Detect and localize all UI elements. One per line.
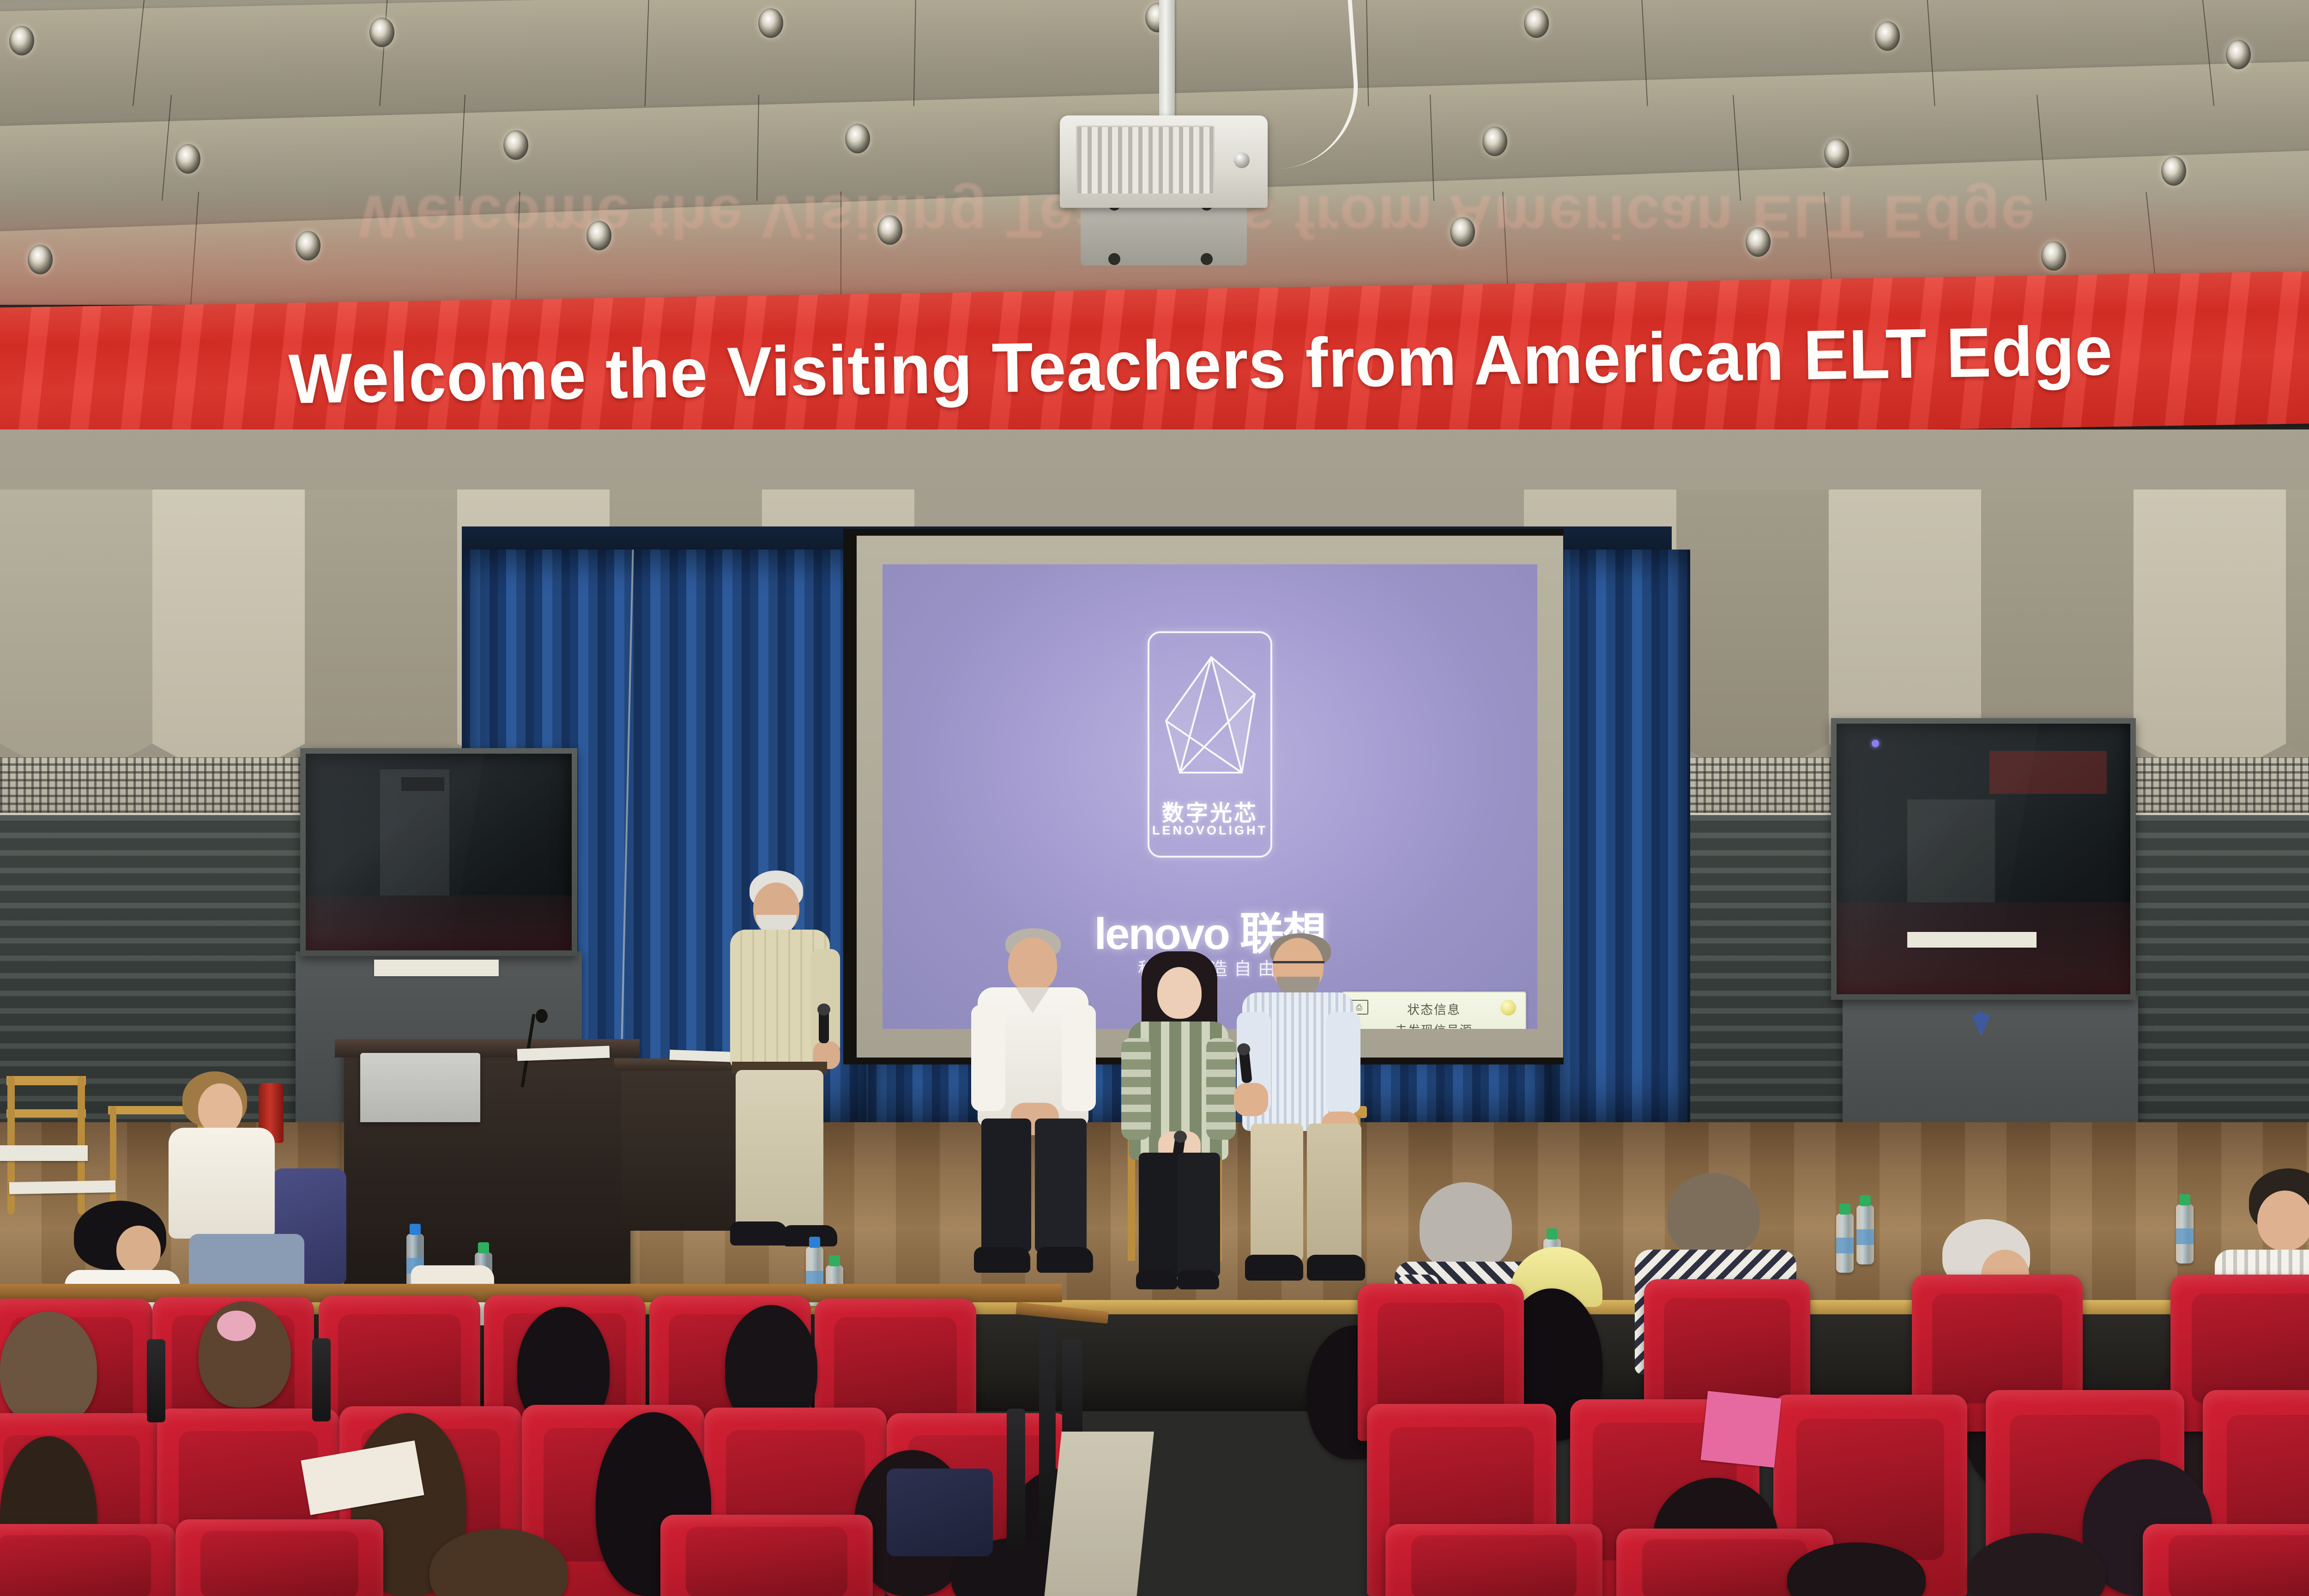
left-monitor-label-strip [374,960,499,976]
right-monitor [1831,718,2136,1000]
audience-seat[interactable] [0,1524,175,1596]
ceiling-downlight [758,8,783,38]
projector-base [1081,203,1247,266]
ceiling-downlight [1450,217,1475,247]
left-monitor [300,748,577,956]
panelist3-khaki-trousers [1251,1124,1303,1261]
standing-moderator [713,871,861,1254]
panelist3-shoe [1307,1255,1365,1281]
audience-head [0,1312,97,1427]
aisle-floor [1044,1432,1154,1596]
ceiling-downlight [877,215,902,245]
seat-armrest [1007,1409,1025,1547]
panelist3-hand-holding-mic [1234,1083,1268,1116]
panelist1-shoe [974,1247,1030,1273]
panelist2-leggings [1178,1153,1220,1277]
panelist3-khaki-trousers [1307,1124,1361,1261]
ceiling-downlight [175,144,200,174]
ceiling-downlight [1875,21,1900,51]
projector-focus-knob[interactable] [1234,152,1250,168]
status-led-icon [1500,1000,1516,1016]
right-monitor-label-strip [1907,932,2037,948]
lenovolight-logo-icon: 数字光芯 LENOVOLIGHT [1148,631,1272,858]
prism-glyph [1156,652,1267,790]
ceiling-downlight [369,18,394,47]
bag-on-seat [887,1469,993,1556]
ceiling-downlight [503,130,528,160]
panelist3-glasses-icon [1273,961,1324,970]
panelist1-arm-left [971,1005,1005,1111]
ceiling-downlight [2161,156,2186,186]
panelist1-shoe [1037,1247,1093,1273]
logo-chinese-text: 数字光芯 [1149,795,1270,827]
moderator-shoe [730,1221,787,1245]
audience-seat[interactable] [175,1519,383,1596]
seat-armrest [312,1338,331,1421]
laptop[interactable] [360,1053,480,1122]
projector-vent-grille [1076,126,1215,195]
ceiling-downlight [2041,241,2066,271]
audience-head [198,1083,242,1134]
panelist2-shoe [1178,1270,1219,1289]
water-bottle[interactable] [1836,1214,1854,1273]
panelist1-trousers [981,1118,1031,1252]
audience-head [116,1226,161,1274]
projector-mount-pole [1159,0,1175,122]
ceiling-downlight [586,221,611,250]
microphone-icon [536,1009,548,1023]
panelist1-head [1008,937,1057,992]
audience-seat[interactable] [1385,1524,1602,1596]
hair-scrunchie-icon [217,1311,256,1341]
panelist1-arm-right [1062,1005,1096,1111]
ceiling-downlight [1824,139,1849,168]
ceiling-downlight [1482,127,1507,156]
ceiling-downlight [845,124,870,153]
papers-on-left-desk [9,1180,115,1194]
ceiling-downlight [296,231,320,260]
stage-curtain-right [1552,550,1690,1136]
panelist2-head [1157,967,1202,1019]
moderator-trousers [736,1070,823,1227]
seat-armrest [147,1339,165,1422]
auditorium-photo: Welcome the Visiting Teachers from Ameri… [0,0,2309,1596]
papers-on-left-desk [0,1145,88,1161]
ceiling-downlight [1524,8,1549,38]
handheld-microphone[interactable] [819,1009,829,1043]
logo-english-text: LENOVOLIGHT [1149,823,1270,838]
audience-hair [1420,1182,1512,1270]
panelist2-leggings [1139,1153,1181,1277]
left-monitor-screen [306,754,572,950]
panelist3-arm-left [1326,1012,1360,1113]
right-monitor-screen [1837,724,2130,994]
seated-panelist-3 [1224,931,1381,1282]
panelist2-shoe [1136,1270,1178,1289]
magazine-on-seat [1701,1391,1782,1468]
ceiling-downlight [9,26,34,55]
audience-head [2257,1191,2309,1251]
panelist3-shoe [1245,1255,1303,1281]
seated-panelist-1 [963,928,1111,1279]
audience-seat[interactable] [660,1515,873,1596]
water-bottle[interactable] [1856,1205,1874,1264]
ceiling-downlight [28,245,53,274]
audience-hair [1667,1173,1759,1256]
water-bottle[interactable] [2176,1204,2194,1263]
audience-seat[interactable] [2143,1524,2309,1596]
ceiling-downlight [1746,227,1771,257]
panelist1-trousers [1035,1118,1087,1252]
panelist2-arm-left [1121,1038,1151,1140]
ceiling-downlight [2226,40,2251,69]
